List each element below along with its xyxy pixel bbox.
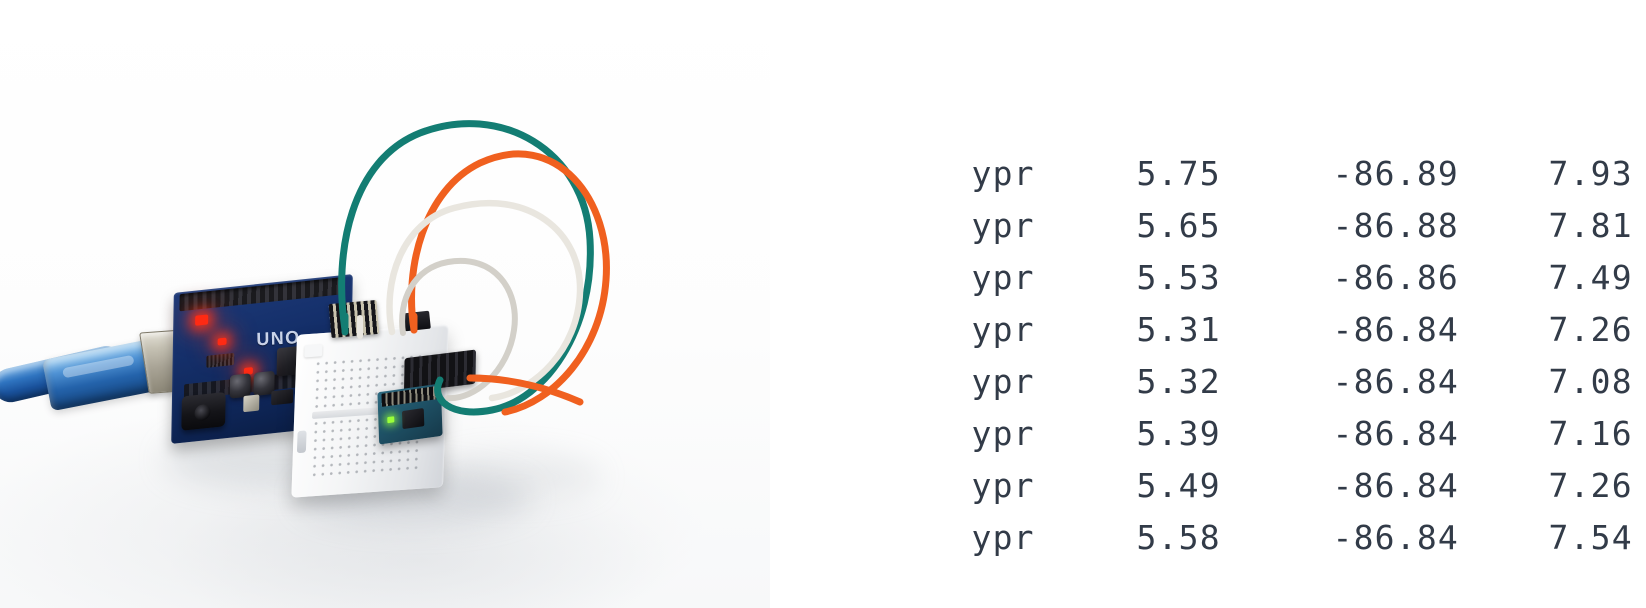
row-roll: 7.16	[1455, 408, 1565, 460]
breadboard-side-notch	[297, 430, 307, 453]
row-tag: ypr	[939, 512, 1137, 564]
digital-pin-header	[179, 277, 344, 311]
crystal-oscillator	[243, 394, 259, 412]
row-pitch: -86.84	[1333, 408, 1455, 460]
usb-serial-ic	[206, 353, 234, 368]
row-yaw: 5.75	[1137, 148, 1333, 200]
row-pitch: -86.88	[1333, 200, 1455, 252]
row-roll: 7.49	[1455, 252, 1565, 304]
row-roll: 7.26	[1455, 460, 1565, 512]
row-roll: 7.81	[1455, 200, 1565, 252]
serial-rows-container: ypr5.75-86.897.93 ypr5.65-86.887.81 ypr5…	[770, 96, 1646, 512]
row-yaw: 5.31	[1137, 304, 1333, 356]
power-led	[195, 314, 208, 325]
row-yaw: 5.65	[1137, 200, 1333, 252]
row-pitch: -86.84	[1333, 460, 1455, 512]
voltage-regulator	[271, 389, 293, 405]
row-pitch: -86.84	[1333, 356, 1455, 408]
sensor-imu-chip	[402, 408, 424, 429]
row-yaw: 5.58	[1137, 512, 1333, 564]
row-roll: 7.54	[1455, 512, 1565, 564]
barrel-power-jack	[181, 392, 225, 431]
row-roll: 7.08	[1455, 356, 1565, 408]
jumper-pin-block	[329, 300, 380, 338]
mpu6050-sensor-module	[377, 383, 442, 444]
row-tag: ypr	[939, 356, 1137, 408]
dupont-connector-shell	[403, 311, 431, 332]
jumper-wires	[0, 0, 770, 608]
row-tag: ypr	[939, 148, 1137, 200]
row-pitch: -86.84	[1333, 512, 1455, 564]
table-shadow-far	[430, 455, 600, 499]
hardware-photo: UNO	[0, 0, 770, 608]
serial-row: ypr5.75-86.897.93	[770, 96, 1646, 148]
row-pitch: -86.89	[1333, 148, 1455, 200]
sensor-power-led	[387, 416, 394, 423]
row-pitch: -86.86	[1333, 252, 1455, 304]
row-yaw: 5.39	[1137, 408, 1333, 460]
screenshot-root: UNO	[0, 0, 1646, 608]
board-silkscreen-label: UNO	[256, 327, 301, 350]
wire-orange-tail	[470, 378, 580, 402]
row-yaw: 5.32	[1137, 356, 1333, 408]
row-tag: ypr	[939, 408, 1137, 460]
breadboard-tab	[304, 344, 322, 357]
row-roll: 7.26	[1455, 304, 1565, 356]
row-tag: ypr	[939, 252, 1137, 304]
row-tag: ypr	[939, 304, 1137, 356]
row-yaw: 5.53	[1137, 252, 1333, 304]
tx-led	[218, 338, 227, 346]
row-tag: ypr	[939, 460, 1137, 512]
row-pitch: -86.84	[1333, 304, 1455, 356]
row-roll: 7.93	[1455, 148, 1565, 200]
row-tag: ypr	[939, 200, 1137, 252]
serial-monitor-output: ypr5.75-86.897.93 ypr5.65-86.887.81 ypr5…	[770, 0, 1646, 608]
row-yaw: 5.49	[1137, 460, 1333, 512]
